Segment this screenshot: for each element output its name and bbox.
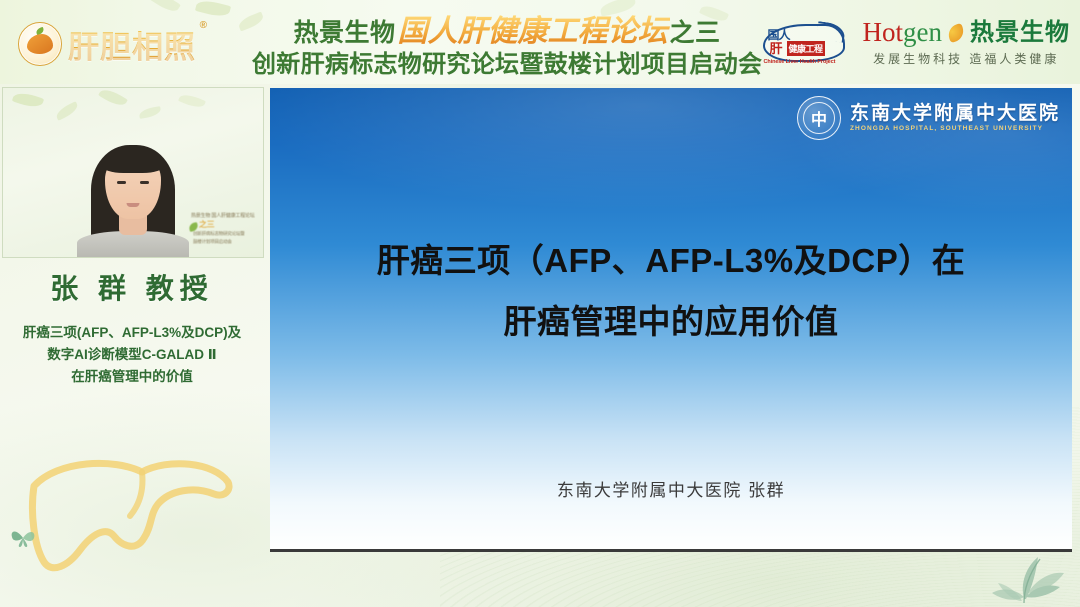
hospital-name-en: ZHONGDA HOSPITAL, SOUTHEAST UNIVERSITY (850, 126, 1060, 133)
watermark-line1: 热景生物 国人肝健康工程论坛 (191, 212, 255, 219)
hotgen-logo[interactable]: Hotgen 热景生物 发展生物科技 造福人类健康 (863, 19, 1070, 67)
hospital-seal-icon: 中 (797, 96, 841, 140)
event-title-prefix: 热景生物 (293, 19, 395, 47)
hotgen-wordmark-part2: gen (903, 17, 942, 47)
registered-mark: ® (200, 20, 208, 31)
event-title-line1: 热景生物国人肝健康工程论坛之三 (252, 16, 762, 48)
butterfly-icon (946, 22, 966, 42)
hotgen-slogan: 发展生物科技 造福人类健康 (863, 50, 1070, 67)
brand-name: 肝胆相照 ® (68, 22, 196, 67)
butterfly-icon (10, 528, 36, 548)
slide-title-line-2: 肝癌管理中的应用价值 (270, 291, 1072, 352)
event-title-suffix: 之三 (670, 19, 721, 47)
liver-outline-icon (18, 442, 242, 602)
hotgen-cn-name: 热景生物 (970, 21, 1070, 45)
chinese-liver-health-project-logo[interactable]: 国人 肝 健康工程 Chinese Liver Health Project (761, 20, 847, 66)
speaker-sidebar: 热景生物 国人肝健康工程论坛 之三 创新肝病标志物研究论坛暨 鼓楼计划项目启动会… (0, 84, 264, 607)
brand-name-text: 肝胆相照 (68, 30, 196, 65)
partner-logos: 国人 肝 健康工程 Chinese Liver Health Project H… (761, 18, 1070, 68)
swoosh-icon (815, 21, 845, 43)
slide-title: 肝癌三项（AFP、AFP-L3%及DCP）在 肝癌管理中的应用价值 (270, 230, 1072, 352)
video-watermark: 热景生物 国人肝健康工程论坛 之三 创新肝病标志物研究论坛暨 鼓楼计划项目启动会 (187, 209, 259, 251)
hospital-logo: 中 东南大学附属中大医院 ZHONGDA HOSPITAL, SOUTHEAST… (797, 96, 1060, 140)
speaker-topic-line-2: 数字AI诊断模型C-GALAD Ⅱ (0, 344, 264, 366)
clhp-cn-main: 肝 (770, 38, 783, 57)
slide-presenter: 东南大学附属中大医院 张群 (270, 476, 1072, 501)
hospital-name-cn: 东南大学附属中大医院 (850, 104, 1060, 124)
hotgen-wordmark: Hotgen (863, 19, 942, 46)
speaker-topic-line-1: 肝癌三项(AFP、AFP-L3%及DCP)及 (0, 322, 264, 344)
brand-logo-ganndanxiangzhao[interactable]: 肝胆相照 ® (18, 20, 196, 68)
webinar-stage: 肝胆相照 ® 热景生物国人肝健康工程论坛之三 创新肝病标志物研究论坛暨鼓楼计划项… (0, 0, 1080, 607)
watermark-line4: 鼓楼计划项目启动会 (193, 239, 232, 245)
event-title: 热景生物国人肝健康工程论坛之三 创新肝病标志物研究论坛暨鼓楼计划项目启动会 (252, 16, 762, 77)
presentation-slide[interactable]: 中 东南大学附属中大医院 ZHONGDA HOSPITAL, SOUTHEAST… (270, 88, 1072, 552)
clhp-cn-badge: 健康工程 (787, 41, 825, 56)
slide-title-line-1: 肝癌三项（AFP、AFP-L3%及DCP）在 (270, 230, 1072, 291)
liver-emblem-icon (18, 22, 62, 66)
speaker-name: 张 群 教授 (0, 267, 264, 307)
speaker-avatar (81, 131, 185, 257)
event-title-highlight: 国人肝健康工程论坛 (396, 15, 670, 48)
speaker-video-tile[interactable]: 热景生物 国人肝健康工程论坛 之三 创新肝病标志物研究论坛暨 鼓楼计划项目启动会 (2, 87, 264, 258)
speaker-topic: 肝癌三项(AFP、AFP-L3%及DCP)及 数字AI诊断模型C-GALAD Ⅱ… (0, 322, 264, 388)
event-title-line2: 创新肝病标志物研究论坛暨鼓楼计划项目启动会 (252, 52, 762, 77)
watermark-line2: 之三 (199, 219, 214, 230)
speaker-topic-line-3: 在肝癌管理中的价值 (0, 366, 264, 388)
leaf-spray-icon (980, 549, 1068, 605)
page-header: 肝胆相照 ® 热景生物国人肝健康工程论坛之三 创新肝病标志物研究论坛暨鼓楼计划项… (0, 0, 1080, 84)
watermark-line3: 创新肝病标志物研究论坛暨 (193, 231, 245, 237)
hotgen-wordmark-part1: Hot (863, 17, 904, 47)
clhp-en: Chinese Liver Health Project (764, 59, 836, 65)
